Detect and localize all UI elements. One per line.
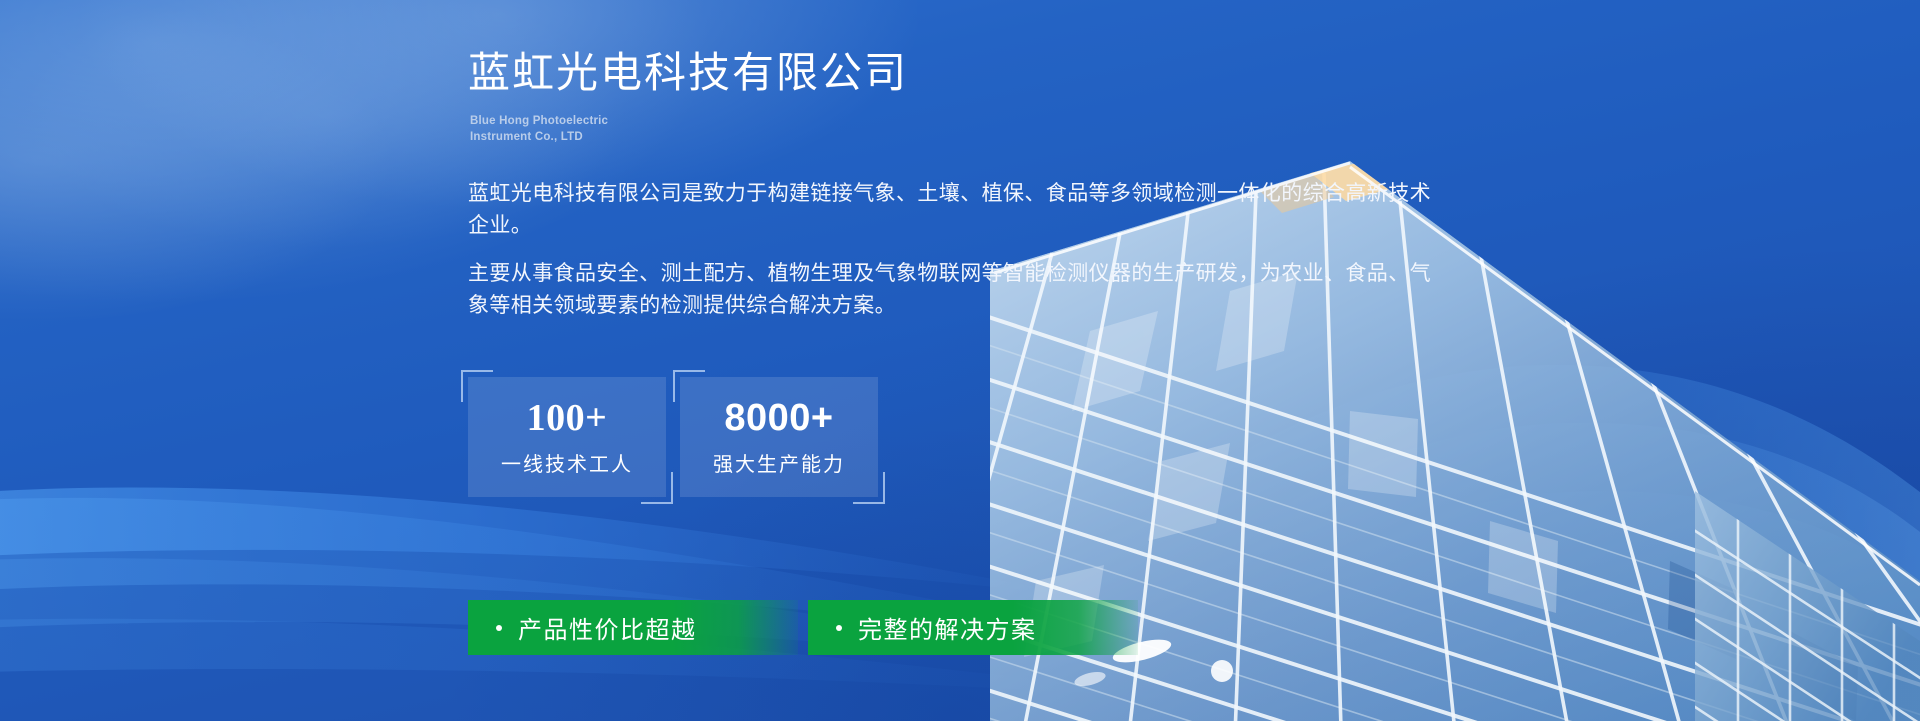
description-paragraph-2: 主要从事食品安全、测土配方、植物生理及气象物联网等智能检测仪器的生产研发，为农业…: [468, 258, 1450, 322]
feature-tag-value: 产品性价比超越: [468, 600, 798, 655]
stat-card-capacity: 8000+ 强大生产能力: [680, 377, 878, 497]
stat-card-workers: 100+ 一线技术工人: [468, 377, 666, 497]
company-subtitle-line2: Instrument Co., LTD: [470, 129, 608, 145]
company-subtitle-line1: Blue Hong Photoelectric: [470, 113, 608, 129]
hero-banner: 蓝虹光电科技有限公司 Blue Hong Photoelectric Instr…: [0, 0, 1920, 721]
feature-tag-solution: 完整的解决方案: [808, 600, 1138, 655]
feature-tag-solution-label: 完整的解决方案: [858, 610, 1037, 645]
feature-tags-group: 产品性价比超越 完整的解决方案: [468, 600, 1138, 655]
stat-value-capacity: 8000+: [724, 399, 833, 437]
stats-group: 100+ 一线技术工人 8000+ 强大生产能力: [468, 377, 878, 497]
banner-content: 蓝虹光电科技有限公司 Blue Hong Photoelectric Instr…: [468, 0, 1468, 721]
bullet-dot-icon: [496, 625, 502, 631]
bullet-dot-icon: [836, 625, 842, 631]
company-title: 蓝虹光电科技有限公司: [468, 48, 908, 98]
description-paragraph-1: 蓝虹光电科技有限公司是致力于构建链接气象、土壤、植保、食品等多领域检测一体化的综…: [468, 178, 1450, 242]
stat-value-workers: 100+: [527, 399, 608, 437]
stat-label-capacity: 强大生产能力: [713, 455, 845, 475]
stat-label-workers: 一线技术工人: [501, 455, 633, 475]
feature-tag-value-label: 产品性价比超越: [518, 610, 697, 645]
company-subtitle-en: Blue Hong Photoelectric Instrument Co., …: [470, 113, 608, 146]
